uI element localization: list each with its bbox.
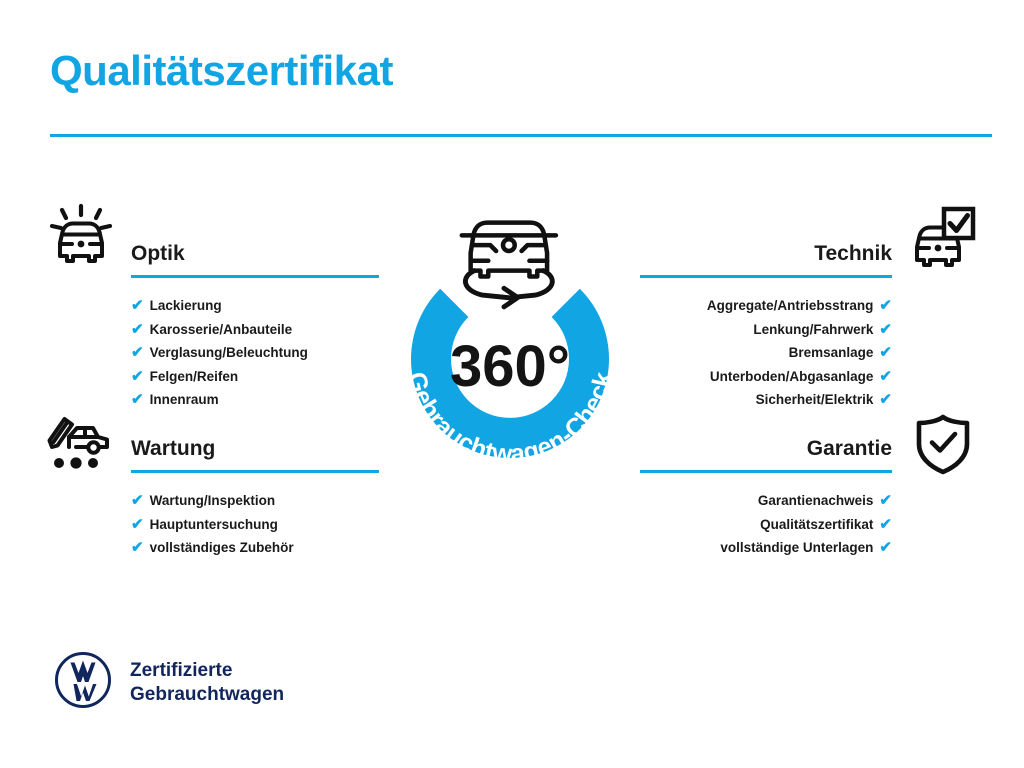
section-technik: Technik Aggregate/Antriebsstrang✔ Lenkun… [640,243,892,412]
checklist-wartung: ✔Wartung/Inspektion ✔Hauptuntersuchung ✔… [131,489,379,560]
section-divider-technik [640,275,892,278]
check-icon: ✔ [879,493,892,508]
footer-line-2: Gebrauchtwagen [130,684,284,705]
list-item-label: Innenraum [150,388,219,412]
footer-logo-text: ZertifizierteGebrauchtwagen [130,659,284,707]
check-icon: ✔ [879,540,892,555]
car-shine-icon [47,203,115,276]
section-divider-wartung [131,470,379,473]
list-item: Lenkung/Fahrwerk✔ [640,318,892,342]
section-optik: Optik ✔Lackierung ✔Karosserie/Anbauteile… [131,243,379,412]
check-icon: ✔ [879,298,892,313]
list-item: ✔Hauptuntersuchung [131,513,379,537]
shield-check-icon [913,413,973,480]
list-item-label: Qualitätszertifikat [760,513,873,537]
list-item: ✔Lackierung [131,294,379,318]
section-wartung: Wartung ✔Wartung/Inspektion ✔Hauptunters… [131,438,379,560]
list-item-label: Sicherheit/Elektrik [756,388,874,412]
badge-center-label: 360° [450,334,570,399]
check-icon: ✔ [879,369,892,384]
list-item: ✔Innenraum [131,388,379,412]
section-garantie: Garantie Garantienachweis✔ Qualitätszert… [640,438,892,560]
check-icon: ✔ [131,298,144,313]
check-icon: ✔ [131,517,144,532]
list-item: ✔Wartung/Inspektion [131,489,379,513]
list-item-label: Verglasung/Beleuchtung [150,341,308,365]
footer-logo: ZertifizierteGebrauchtwagen [54,651,284,714]
list-item: Garantienachweis✔ [640,489,892,513]
list-item: ✔Karosserie/Anbauteile [131,318,379,342]
check-icon: ✔ [131,345,144,360]
list-item: Aggregate/Antriebsstrang✔ [640,294,892,318]
title-divider [50,134,992,137]
section-divider-garantie [640,470,892,473]
list-item-label: Aggregate/Antriebsstrang [707,294,874,318]
section-divider-optik [131,275,379,278]
check-icon: ✔ [131,322,144,337]
checklist-garantie: Garantienachweis✔ Qualitätszertifikat✔ v… [640,489,892,560]
check-icon: ✔ [879,392,892,407]
page-title: Qualitätszertifikat [50,50,393,92]
list-item-label: Unterboden/Abgasanlage [710,365,874,389]
list-item-label: Lenkung/Fahrwerk [753,318,873,342]
list-item-label: vollständiges Zubehör [150,536,294,560]
list-item: Unterboden/Abgasanlage✔ [640,365,892,389]
list-item-label: vollständige Unterlagen [720,536,873,560]
car-rotation-icon [462,223,556,307]
list-item: Qualitätszertifikat✔ [640,513,892,537]
list-item-label: Bremsanlage [789,341,874,365]
section-heading-optik: Optik [131,243,379,264]
check-icon: ✔ [879,345,892,360]
checklist-optik: ✔Lackierung ✔Karosserie/Anbauteile ✔Verg… [131,294,379,412]
list-item-label: Hauptuntersuchung [150,513,278,537]
check-icon: ✔ [131,493,144,508]
check-icon: ✔ [879,322,892,337]
list-item: ✔Verglasung/Beleuchtung [131,341,379,365]
list-item: vollständige Unterlagen✔ [640,536,892,560]
list-item-label: Wartung/Inspektion [150,489,276,513]
check-icon: ✔ [131,540,144,555]
vw-roundel-icon [54,651,112,714]
check-icon: ✔ [131,392,144,407]
section-heading-wartung: Wartung [131,438,379,459]
list-item: ✔vollständiges Zubehör [131,536,379,560]
check-icon: ✔ [879,517,892,532]
list-item: Sicherheit/Elektrik✔ [640,388,892,412]
checklist-technik: Aggregate/Antriebsstrang✔ Lenkung/Fahrwe… [640,294,892,412]
list-item-label: Lackierung [150,294,222,318]
list-item: ✔Felgen/Reifen [131,365,379,389]
check-icon: ✔ [131,369,144,384]
list-item-label: Karosserie/Anbauteile [150,318,293,342]
list-item-label: Garantienachweis [758,489,874,513]
section-heading-technik: Technik [640,243,892,264]
list-item: Bremsanlage✔ [640,341,892,365]
car-service-pen-icon [45,413,115,476]
list-item-label: Felgen/Reifen [150,365,239,389]
section-heading-garantie: Garantie [640,438,892,459]
badge-360-gebrauchtwagen-check: Gebrauchtwagen-Check 360° [374,196,646,486]
car-checkbox-icon [908,203,976,276]
footer-line-1: Zertifizierte [130,660,232,681]
